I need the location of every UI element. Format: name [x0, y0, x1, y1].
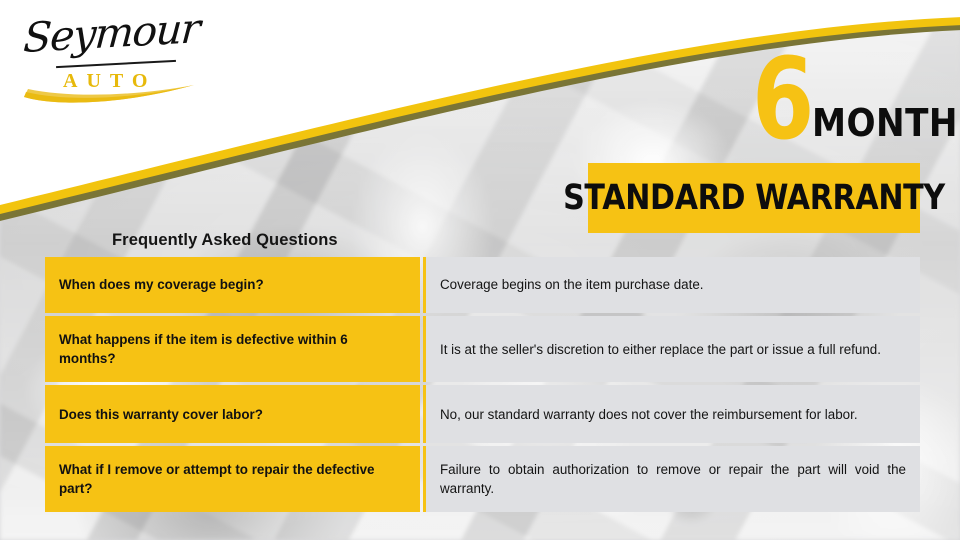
warranty-duration-unit: MONTH [812, 104, 958, 142]
warranty-slide: Seymour AUTO 6 MONTH STANDARD WARRANTY F… [0, 0, 960, 540]
faq-question: Does this warranty cover labor? [45, 385, 420, 443]
table-row: When does my coverage begin? Coverage be… [45, 257, 920, 313]
table-row: What if I remove or attempt to repair th… [45, 446, 920, 512]
logo-script-text: Seymour [22, 4, 201, 62]
brand-logo[interactable]: Seymour AUTO [16, 14, 206, 106]
faq-table: When does my coverage begin? Coverage be… [45, 257, 920, 512]
logo-auto-text: AUTO [63, 71, 156, 91]
faq-question: What if I remove or attempt to repair th… [45, 446, 420, 512]
faq-question: When does my coverage begin? [45, 257, 420, 313]
faq-answer: No, our standard warranty does not cover… [423, 385, 920, 443]
table-row: Does this warranty cover labor? No, our … [45, 385, 920, 443]
standard-warranty-banner: STANDARD WARRANTY [588, 163, 920, 233]
faq-heading: Frequently Asked Questions [112, 231, 338, 250]
standard-warranty-label: STANDARD WARRANTY [563, 181, 945, 216]
faq-answer: It is at the seller's discretion to eith… [423, 316, 920, 382]
warranty-duration-number: 6 [752, 44, 813, 156]
faq-answer: Coverage begins on the item purchase dat… [423, 257, 920, 313]
table-row: What happens if the item is defective wi… [45, 316, 920, 382]
faq-answer: Failure to obtain authorization to remov… [423, 446, 920, 512]
faq-question: What happens if the item is defective wi… [45, 316, 420, 382]
